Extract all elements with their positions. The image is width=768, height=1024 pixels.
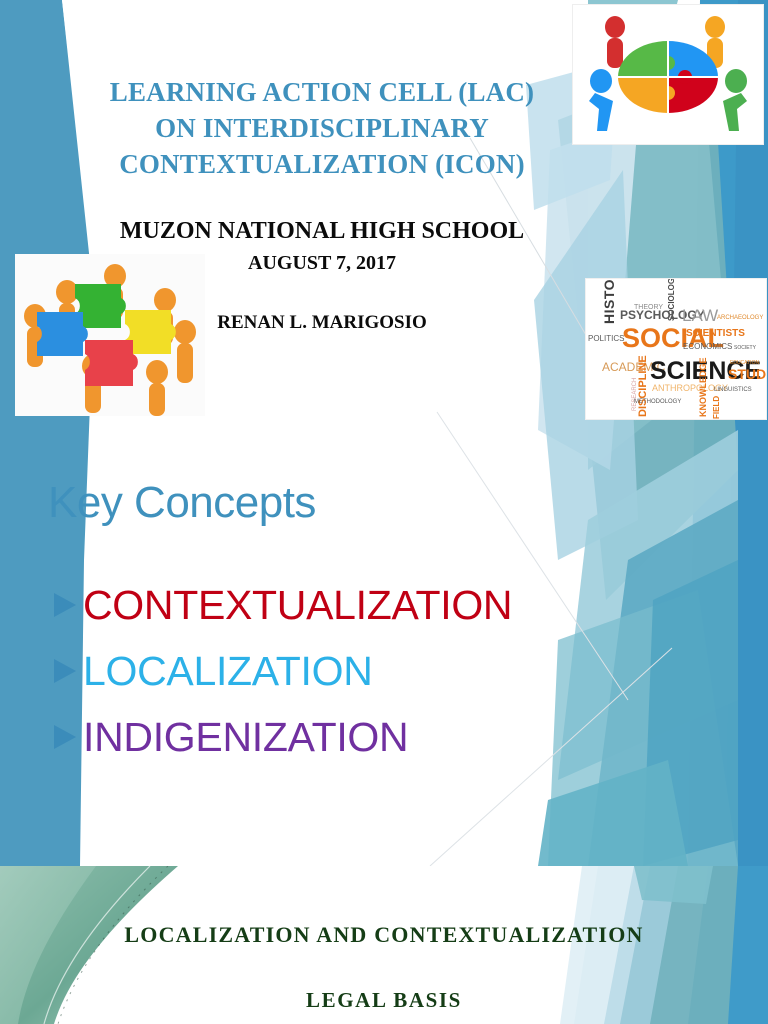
slide-title-lac-icon: HISTORY THEORY SOCIOLOGY PSYCHOLOGY LAW … (0, 0, 768, 866)
key-concepts-list: CONTEXTUALIZATION LOCALIZATION INDIGENIZ… (52, 572, 512, 770)
key-concept-contextualization: CONTEXTUALIZATION (83, 585, 512, 626)
slide2-subheading-legal-basis: LEGAL BASIS (0, 988, 768, 1013)
list-item: CONTEXTUALIZATION (52, 572, 512, 638)
page-title: LEARNING ACTION CELL (LAC) ON INTERDISCI… (62, 74, 582, 183)
key-concepts-heading: Key Concepts (48, 478, 316, 528)
puzzle-circle-teamwork-image (572, 4, 764, 145)
svg-text:SOCIETY: SOCIETY (734, 345, 757, 351)
svg-text:FIELD: FIELD (712, 396, 721, 419)
presenter-name: RENAN L. MARIGOSIO (62, 312, 582, 334)
svg-text:METHODOLOGY: METHODOLOGY (634, 399, 681, 405)
event-date: AUGUST 7, 2017 (62, 252, 582, 275)
triangle-bullet-icon (52, 722, 78, 752)
svg-text:SCIENTISTS: SCIENTISTS (686, 328, 745, 339)
svg-text:STUDY: STUDY (728, 366, 766, 382)
key-concept-indigenization: INDIGENIZATION (83, 717, 408, 758)
puzzle-pieces-teamwork-image (15, 254, 205, 416)
svg-text:DISCIPLINE: DISCIPLINE (637, 355, 649, 417)
title-line-3: CONTEXTUALIZATION (ICON) (62, 146, 582, 182)
title-line-1: LEARNING ACTION CELL (LAC) (62, 74, 582, 110)
key-concept-localization: LOCALIZATION (83, 651, 373, 692)
svg-text:ARCHAEOLOGY: ARCHAEOLOGY (717, 315, 763, 321)
presentation-deck: HISTORY THEORY SOCIOLOGY PSYCHOLOGY LAW … (0, 0, 768, 1024)
puzzle-circle-svg (573, 5, 763, 144)
social-science-word-cloud-image: HISTORY THEORY SOCIOLOGY PSYCHOLOGY LAW … (585, 278, 767, 420)
title-line-2: ON INTERDISCIPLINARY (62, 110, 582, 146)
list-item: INDIGENIZATION (52, 704, 512, 770)
slide-localization-legal-basis: LOCALIZATION AND CONTEXTUALIZATION LEGAL… (0, 866, 768, 1024)
triangle-bullet-icon (52, 590, 78, 620)
svg-text:LINGUISTICS: LINGUISTICS (714, 387, 752, 393)
svg-text:ECONOMICS: ECONOMICS (683, 342, 732, 351)
slide2-heading-localization-contextualization: LOCALIZATION AND CONTEXTUALIZATION (0, 922, 768, 948)
school-name: MUZON NATIONAL HIGH SCHOOL (62, 218, 582, 245)
word-cloud-svg: HISTORY THEORY SOCIOLOGY PSYCHOLOGY LAW … (586, 279, 766, 419)
svg-text:POLITICS: POLITICS (588, 334, 624, 343)
svg-text:HISTORY: HISTORY (601, 279, 617, 324)
triangle-bullet-icon (52, 656, 78, 686)
puzzle-pieces-svg (15, 254, 205, 416)
svg-text:KNOWLEDGE: KNOWLEDGE (698, 358, 708, 418)
list-item: LOCALIZATION (52, 638, 512, 704)
